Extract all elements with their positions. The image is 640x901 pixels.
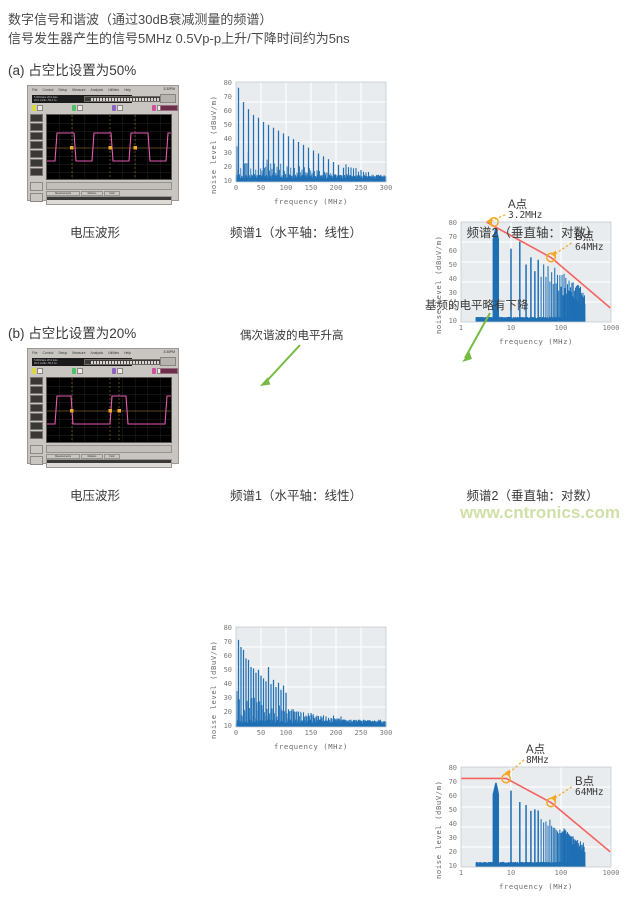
scope-menubar-a[interactable]: File Control Setup Measure Analysis Util… <box>28 86 178 94</box>
scope-side-button-7[interactable] <box>30 431 43 439</box>
scope-side-button-6[interactable] <box>30 422 43 430</box>
ytick: 30 <box>441 834 457 842</box>
scope-menu-control[interactable]: Control <box>42 351 53 355</box>
scope-side-button-4[interactable] <box>30 404 43 412</box>
scope-channel-row-a <box>32 105 176 113</box>
scope-plot-area-a <box>46 114 172 180</box>
chart-b-log: noise level (dBuV/m) 80 70 60 50 40 30 2… <box>425 761 640 901</box>
chart-b-log-xlabel: frequency (MHz) <box>461 882 611 891</box>
scope-side-button-2[interactable] <box>30 386 43 394</box>
scope-run-button-a[interactable] <box>160 94 176 103</box>
scope-side-button-1[interactable] <box>30 114 43 122</box>
scope-menu-help[interactable]: Help <box>124 88 131 92</box>
annot-b-point-freq: 64MHz <box>575 242 604 253</box>
ytick: 40 <box>216 680 232 688</box>
scope-menu-analysis[interactable]: Analysis <box>90 351 103 355</box>
scope-strip-fill <box>91 98 161 101</box>
scope-menubar-b[interactable]: File Control Setup Measure Analysis Util… <box>28 349 178 357</box>
section-label-b: (b) 占空比设置为20% <box>8 322 136 342</box>
annot-even-harmonics-arrow <box>200 340 390 400</box>
xtick: 0 <box>230 184 242 192</box>
scope-side-button-3[interactable] <box>30 132 43 140</box>
scope-table-row <box>47 467 171 468</box>
ytick: 50 <box>216 121 232 129</box>
scope-measurement-table-b <box>46 459 172 468</box>
scope-clock-a: 3:30PM <box>163 87 175 91</box>
ytick: 80 <box>216 624 232 632</box>
scope-waveform-svg-b <box>47 378 172 443</box>
ytick: 40 <box>441 275 457 283</box>
chart-b-linear-plot <box>236 627 386 727</box>
scope-channel-c2[interactable] <box>72 368 84 375</box>
caption-waveform-a: 电压波形 <box>5 222 185 241</box>
chart-b-linear: noise level (dBuV/m) 80 70 60 50 40 30 2… <box>200 621 390 761</box>
watermark: www.cntronics.com <box>460 503 620 523</box>
ytick: 30 <box>216 694 232 702</box>
ytick: 60 <box>216 107 232 115</box>
caption-spectrum-linear-b: 频谱1（水平轴：线性） <box>196 485 396 504</box>
scope-side-button-5[interactable] <box>30 150 43 158</box>
xtick: 1000 <box>601 324 621 332</box>
chart-b-linear-xlabel: frequency (MHz) <box>236 742 386 751</box>
ytick: 50 <box>216 666 232 674</box>
annot-a-point-freq: 3.2MHz <box>508 210 542 221</box>
xtick: 200 <box>329 184 343 192</box>
section-label-a: (a) 占空比设置为50% <box>8 59 136 79</box>
xtick: 50 <box>255 729 267 737</box>
scope-side-toolbar-b[interactable] <box>30 377 44 443</box>
xtick: 300 <box>379 184 393 192</box>
caption-spectrum-log-b: 频谱2（垂直轴：对数） <box>430 485 635 504</box>
oscilloscope-screenshot-b: File Control Setup Measure Analysis Util… <box>5 345 185 469</box>
chart-a-linear-plot <box>236 82 386 182</box>
scope-channel-c1[interactable] <box>32 368 44 375</box>
xtick: 100 <box>279 729 293 737</box>
scope-menu-measure[interactable]: Measure <box>72 88 85 92</box>
oscilloscope-screenshot-a: File Control Setup Measure Analysis Util… <box>5 82 185 206</box>
xtick: 150 <box>304 184 318 192</box>
scope-menu-help[interactable]: Help <box>124 351 131 355</box>
caption-waveform-b: 电压波形 <box>5 485 185 504</box>
annot-b-point-freq: 64MHz <box>575 787 604 798</box>
header-line-2: 信号发生器产生的信号5MHz 0.5Vp-p上升/下降时间约为5ns <box>8 28 350 47</box>
scope-side-button-7[interactable] <box>30 168 43 176</box>
scope-side-toolbar-a[interactable] <box>30 114 44 180</box>
xtick: 150 <box>304 729 318 737</box>
header-line-1: 数字信号和谐波（通过30dB衰减测量的频谱） <box>8 9 272 28</box>
scope-left-buttons-a[interactable] <box>30 182 44 204</box>
scope-menu-analysis[interactable]: Analysis <box>90 88 103 92</box>
scope-stop-button[interactable] <box>30 445 43 454</box>
ytick: 20 <box>441 848 457 856</box>
scope-trigger-indicator <box>160 105 178 111</box>
scope-waveform-strip-b[interactable] <box>84 359 172 365</box>
ytick: 30 <box>441 289 457 297</box>
scope-clock-b: 3:30PM <box>163 350 175 354</box>
chart-a-linear-xlabel: frequency (MHz) <box>236 197 386 206</box>
xtick: 100 <box>553 869 569 877</box>
xtick: 1 <box>455 869 467 877</box>
xtick: 300 <box>379 729 393 737</box>
scope-table-row <box>47 204 171 205</box>
scope-run-button-b[interactable] <box>160 357 176 366</box>
scope-menu-measure[interactable]: Measure <box>72 351 85 355</box>
ytick: 30 <box>216 149 232 157</box>
caption-spectrum-linear-a: 频谱1（水平轴：线性） <box>196 222 396 241</box>
scope-waveform-svg-a <box>47 115 172 180</box>
scope-stop-button[interactable] <box>30 182 43 191</box>
ytick: 20 <box>216 708 232 716</box>
xtick: 1000 <box>601 869 621 877</box>
ytick: 40 <box>441 820 457 828</box>
scope-window-b: File Control Setup Measure Analysis Util… <box>27 348 179 464</box>
scope-side-button-4[interactable] <box>30 141 43 149</box>
scope-waveform-strip-a[interactable] <box>84 96 172 102</box>
ytick: 40 <box>216 135 232 143</box>
xtick: 250 <box>354 729 368 737</box>
scope-measurement-table-a <box>46 196 172 205</box>
scope-side-button-6[interactable] <box>30 159 43 167</box>
scope-side-button-1[interactable] <box>30 377 43 385</box>
scope-menu-setup[interactable]: Setup <box>58 88 67 92</box>
scope-menu-setup[interactable]: Setup <box>58 351 67 355</box>
scope-trigger-indicator <box>160 368 178 374</box>
ytick: 20 <box>216 163 232 171</box>
xtick: 10 <box>504 869 518 877</box>
scope-menu-file[interactable]: File <box>32 88 37 92</box>
caption-spectrum-log-a: 频谱2（垂直轴：对数） <box>430 222 635 241</box>
ytick: 70 <box>216 93 232 101</box>
scope-left-buttons-b[interactable] <box>30 445 44 467</box>
scope-menu-control[interactable]: Control <box>42 88 53 92</box>
scope-channel-c1[interactable] <box>32 105 44 112</box>
scope-channel-c2[interactable] <box>72 105 84 112</box>
scope-single-button[interactable] <box>30 193 43 202</box>
scope-side-button-5[interactable] <box>30 413 43 421</box>
scope-strip-fill <box>91 361 161 364</box>
scope-plot-area-b <box>46 377 172 443</box>
scope-window-a: File Control Setup Measure Analysis Util… <box>27 85 179 201</box>
scope-bottom-controls-b[interactable] <box>46 445 172 453</box>
scope-channel-c3[interactable] <box>112 368 124 375</box>
scope-single-button[interactable] <box>30 456 43 465</box>
scope-menu-file[interactable]: File <box>32 351 37 355</box>
xtick: 100 <box>279 184 293 192</box>
ytick: 80 <box>216 79 232 87</box>
xtick: 250 <box>354 184 368 192</box>
scope-side-button-3[interactable] <box>30 395 43 403</box>
xtick: 200 <box>329 729 343 737</box>
ytick: 70 <box>216 638 232 646</box>
scope-side-button-2[interactable] <box>30 123 43 131</box>
scope-channel-c3[interactable] <box>112 105 124 112</box>
chart-a-linear: noise level (dBuV/m) 80 70 60 50 40 30 2… <box>200 76 390 216</box>
xtick: 0 <box>230 729 242 737</box>
scope-bottom-controls-a[interactable] <box>46 182 172 190</box>
xtick: 50 <box>255 184 267 192</box>
annot-fundamental-drop-arrow <box>425 310 585 370</box>
scope-menu-utilities[interactable]: Utilities <box>108 351 119 355</box>
scope-channel-row-b <box>32 368 176 376</box>
annot-a-point-freq: 8MHz <box>526 755 549 766</box>
ytick: 60 <box>216 652 232 660</box>
scope-menu-utilities[interactable]: Utilities <box>108 88 119 92</box>
